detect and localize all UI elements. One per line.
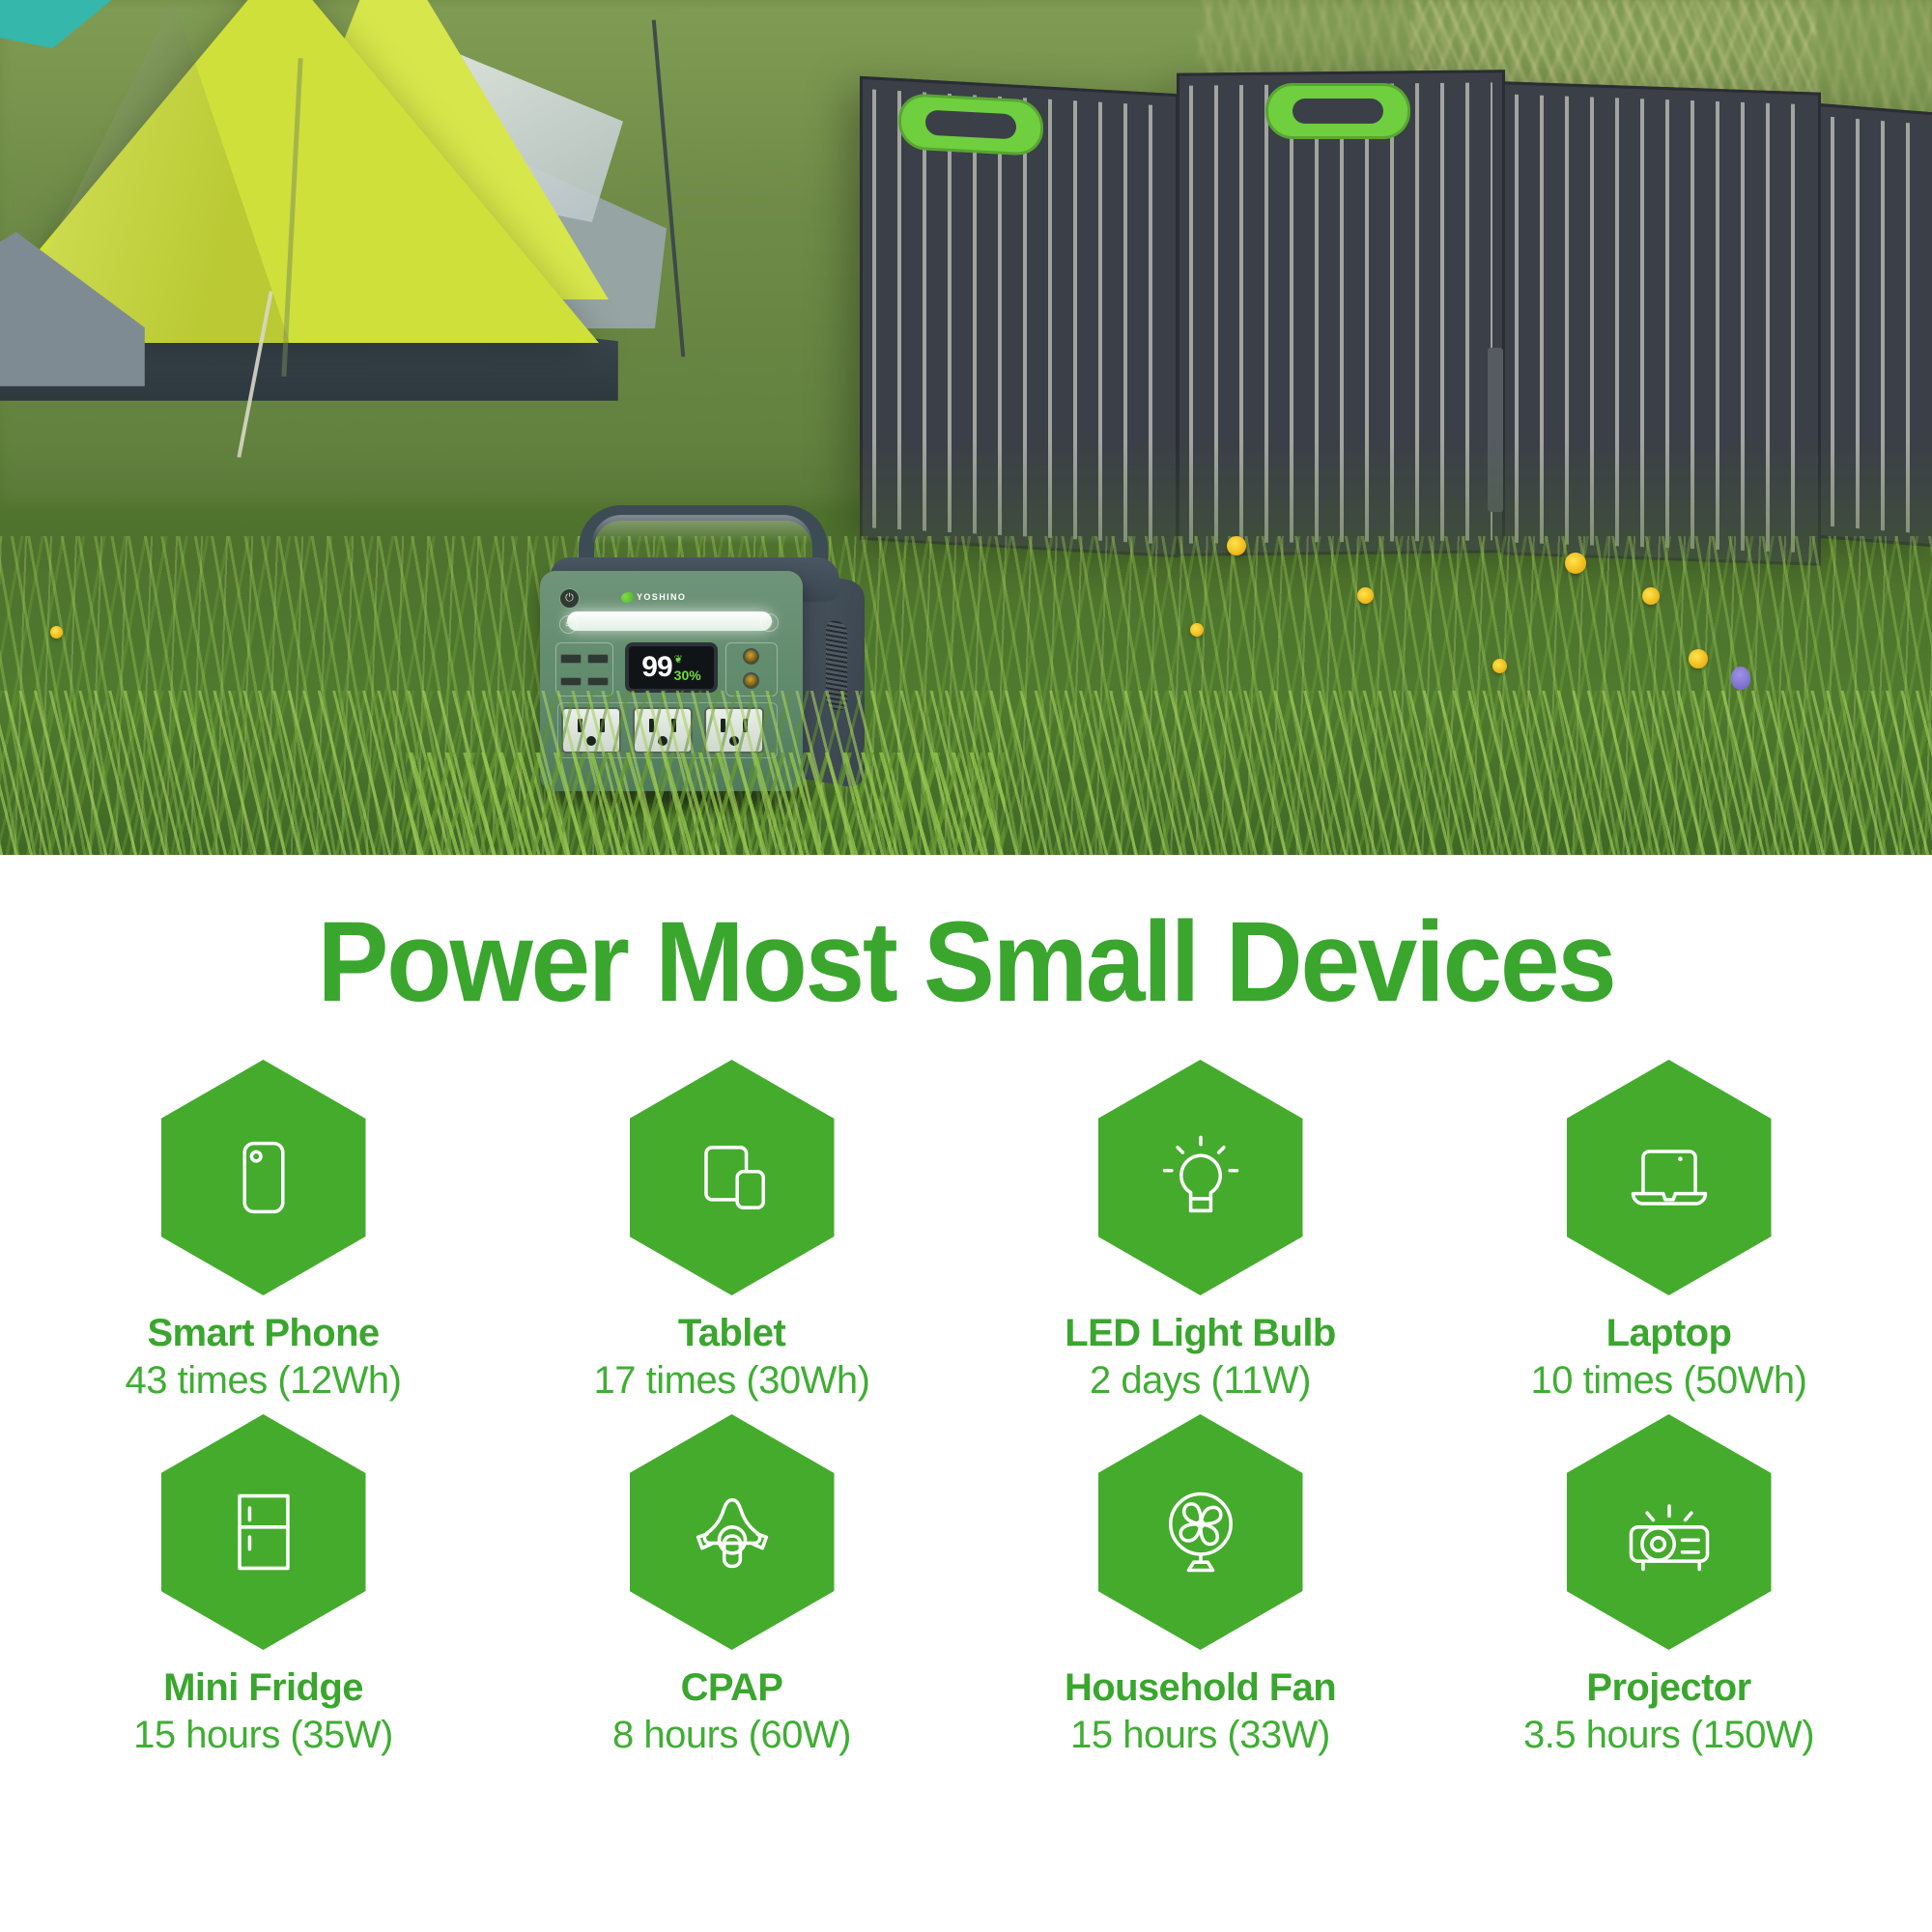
device-card-led-light-bulb: LED Light Bulb 2 days (11W) <box>966 1060 1435 1401</box>
carry-handle-highlight <box>592 515 812 544</box>
device-spec: 15 hours (33W) <box>1070 1715 1330 1755</box>
device-spec: 8 hours (60W) <box>612 1715 851 1755</box>
usb-c-port[interactable] <box>560 677 582 686</box>
hexagon-badge <box>630 1414 835 1650</box>
hexagon-badge <box>161 1060 366 1295</box>
devices-section: Power Most Small Devices Smart Phone 43 … <box>0 855 1932 1932</box>
hexagon-badge <box>1098 1060 1303 1295</box>
smartphone-icon <box>213 1127 314 1228</box>
device-spec: 17 times (30Wh) <box>594 1360 870 1401</box>
usb-port-zone <box>555 642 613 696</box>
device-name: Projector <box>1586 1667 1750 1708</box>
hexagon-badge <box>1098 1414 1303 1650</box>
laptop-icon <box>1619 1127 1719 1228</box>
page-title: Power Most Small Devices <box>58 855 1874 1019</box>
device-grid: Smart Phone 43 times (12Wh) Tablet 17 ti… <box>0 1019 1932 1755</box>
device-card-tablet: Tablet 17 times (30Wh) <box>497 1060 966 1401</box>
dc-output-port[interactable] <box>743 672 759 689</box>
light-bulb-icon <box>1151 1127 1251 1228</box>
brand-logo-text: YOSHINO <box>637 592 686 602</box>
yellow-flower <box>1642 587 1660 605</box>
mini-fridge-icon <box>213 1482 314 1582</box>
hero-product-photo: YOSHINO ⏻ ≋ ✳ 99 ❦ 30% <box>0 0 1932 855</box>
device-spec: 10 times (50Wh) <box>1531 1360 1807 1401</box>
device-card-mini-fridge: Mini Fridge 15 hours (35W) <box>29 1414 497 1755</box>
usb-c-port[interactable] <box>587 677 609 686</box>
hexagon-badge <box>630 1060 835 1295</box>
device-spec: 43 times (12Wh) <box>126 1360 402 1401</box>
battery-display-screen: 99 ❦ 30% <box>625 642 718 693</box>
infographic-page: YOSHINO ⏻ ≋ ✳ 99 ❦ 30% <box>0 0 1932 1932</box>
device-name: Smart Phone <box>147 1313 379 1353</box>
gear-icon[interactable]: ✳ <box>760 613 779 632</box>
solar-panel-handle-right <box>1265 83 1410 139</box>
yellow-flower <box>1357 587 1374 604</box>
device-card-household-fan: Household Fan 15 hours (33W) <box>966 1414 1435 1755</box>
hexagon-badge <box>1567 1414 1772 1650</box>
led-light-bar <box>567 611 772 631</box>
device-spec: 15 hours (35W) <box>133 1715 393 1755</box>
hexagon-badge <box>1567 1060 1772 1295</box>
dc-output-port[interactable] <box>743 648 759 665</box>
device-name: Tablet <box>678 1313 785 1353</box>
hexagon-badge <box>161 1414 366 1650</box>
yellow-flower <box>1190 623 1204 637</box>
display-leaf-icon: ❦ <box>674 654 683 666</box>
projector-icon <box>1619 1482 1719 1582</box>
device-name: Household Fan <box>1065 1667 1336 1708</box>
fan-icon <box>1151 1482 1251 1582</box>
device-card-laptop: Laptop 10 times (50Wh) <box>1435 1060 1903 1401</box>
grass-in-front-of-product <box>406 753 1005 855</box>
solar-panel-handle-left <box>898 93 1043 156</box>
device-name: Laptop <box>1606 1313 1732 1353</box>
device-name: LED Light Bulb <box>1065 1313 1335 1353</box>
device-card-smart-phone: Smart Phone 43 times (12Wh) <box>29 1060 497 1401</box>
yellow-flower <box>1565 553 1586 574</box>
power-button-icon[interactable]: ⏻ <box>559 588 580 609</box>
yellow-flower <box>50 626 63 639</box>
tablet-icon <box>682 1127 782 1228</box>
device-name: CPAP <box>681 1667 783 1708</box>
device-name: Mini Fridge <box>163 1667 363 1708</box>
blue-flower <box>1731 667 1750 690</box>
display-value: 99 <box>641 653 671 682</box>
display-percent: 30% <box>674 668 701 683</box>
device-card-projector: Projector 3.5 hours (150W) <box>1435 1414 1903 1755</box>
device-spec: 2 days (11W) <box>1090 1360 1311 1401</box>
yellow-flower <box>1227 536 1246 555</box>
yellow-flower <box>1492 659 1507 673</box>
yellow-flower <box>1689 649 1708 668</box>
cpap-mask-icon <box>682 1482 782 1582</box>
device-card-cpap: CPAP 8 hours (60W) <box>497 1414 966 1755</box>
device-spec: 3.5 hours (150W) <box>1523 1715 1814 1755</box>
wifi-icon[interactable]: ≋ <box>559 615 578 634</box>
usb-port[interactable] <box>587 654 609 664</box>
usb-port[interactable] <box>560 654 582 664</box>
camping-tent <box>0 0 696 396</box>
